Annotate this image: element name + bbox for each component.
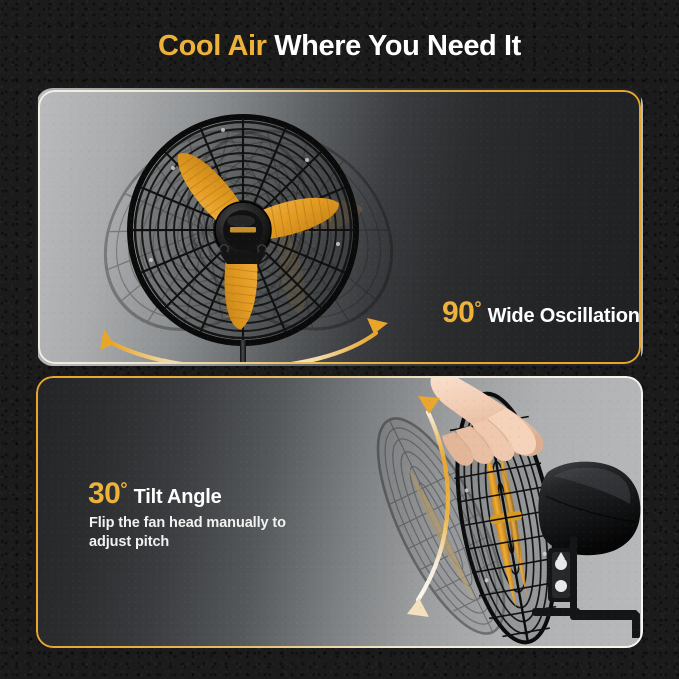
panel-oscillation: 90° 90°Wide Oscillation [36,88,643,366]
motor-housing [538,462,640,556]
headline-accent: Cool Air [158,30,267,62]
product-feature-graphic: Cool Air Where You Need It [0,0,679,679]
tilt-spec: 30°Tilt Angle [88,477,222,511]
oscillation-spec: 90°Wide Oscillation [442,296,640,330]
tilt-spec-value: 30 [88,477,120,510]
panel-tilt: 30° [36,376,643,648]
oscillation-spec-label: Wide Oscillation [488,305,640,327]
tilt-description: Flip the fan head manually to adjust pit… [89,514,319,551]
page-title: Cool Air Where You Need It [0,30,679,63]
tilt-spec-label: Tilt Angle [134,486,222,508]
tilt-artwork [36,376,643,648]
fan-hub [215,202,271,264]
main-fan [130,117,356,343]
headline-rest: Where You Need It [267,30,521,62]
oscillation-spec-value: 90 [442,296,474,329]
tilt-degree-symbol: ° [120,479,127,499]
hand-gripping-fan [431,376,544,466]
oscillation-degree-symbol: ° [474,298,481,318]
